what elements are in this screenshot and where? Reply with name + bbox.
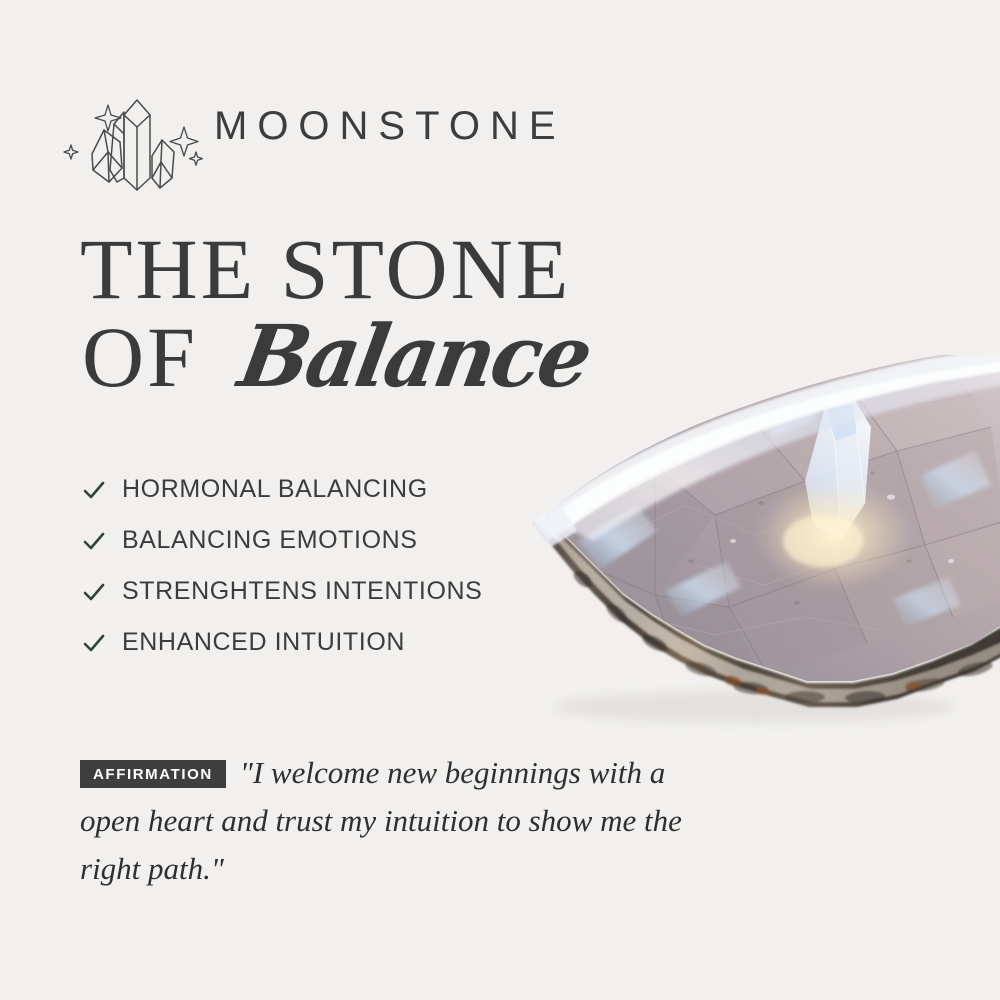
benefit-label: HORMONAL BALANCING <box>122 475 428 504</box>
affirmation-block: AFFIRMATION"I welcome new beginnings wit… <box>80 718 720 924</box>
sparkle-icon <box>64 105 203 165</box>
list-item: STRENGHTENS INTENTIONS <box>82 566 552 617</box>
brand-wordmark: MOONSTONE <box>214 104 566 149</box>
check-icon <box>82 531 122 551</box>
crystal-cluster-icon <box>62 82 212 194</box>
benefit-label: BALANCING EMOTIONS <box>122 526 418 555</box>
headline-of-word: OF <box>82 307 198 407</box>
list-item: BALANCING EMOTIONS <box>82 515 552 566</box>
status-badge: AFFIRMATION <box>80 760 226 788</box>
affirmation-quote: AFFIRMATION"I welcome new beginnings wit… <box>80 749 720 893</box>
headline-line-1: THE STONE <box>80 228 700 311</box>
benefit-label: STRENGHTENS INTENTIONS <box>122 577 482 606</box>
check-icon <box>82 480 122 500</box>
benefit-label: ENHANCED INTUITION <box>122 628 405 657</box>
list-item: ENHANCED INTUITION <box>82 617 552 668</box>
moonstone-slab-photo <box>505 355 1000 755</box>
list-item: HORMONAL BALANCING <box>82 464 552 515</box>
benefits-list: HORMONAL BALANCING BALANCING EMOTIONS ST… <box>82 464 552 668</box>
check-icon <box>82 582 122 602</box>
moonstone-info-card: MOONSTONE THE STONE OF Balance <box>0 0 1000 1000</box>
check-icon <box>82 633 122 653</box>
brand-logo: MOONSTONE <box>62 82 582 194</box>
